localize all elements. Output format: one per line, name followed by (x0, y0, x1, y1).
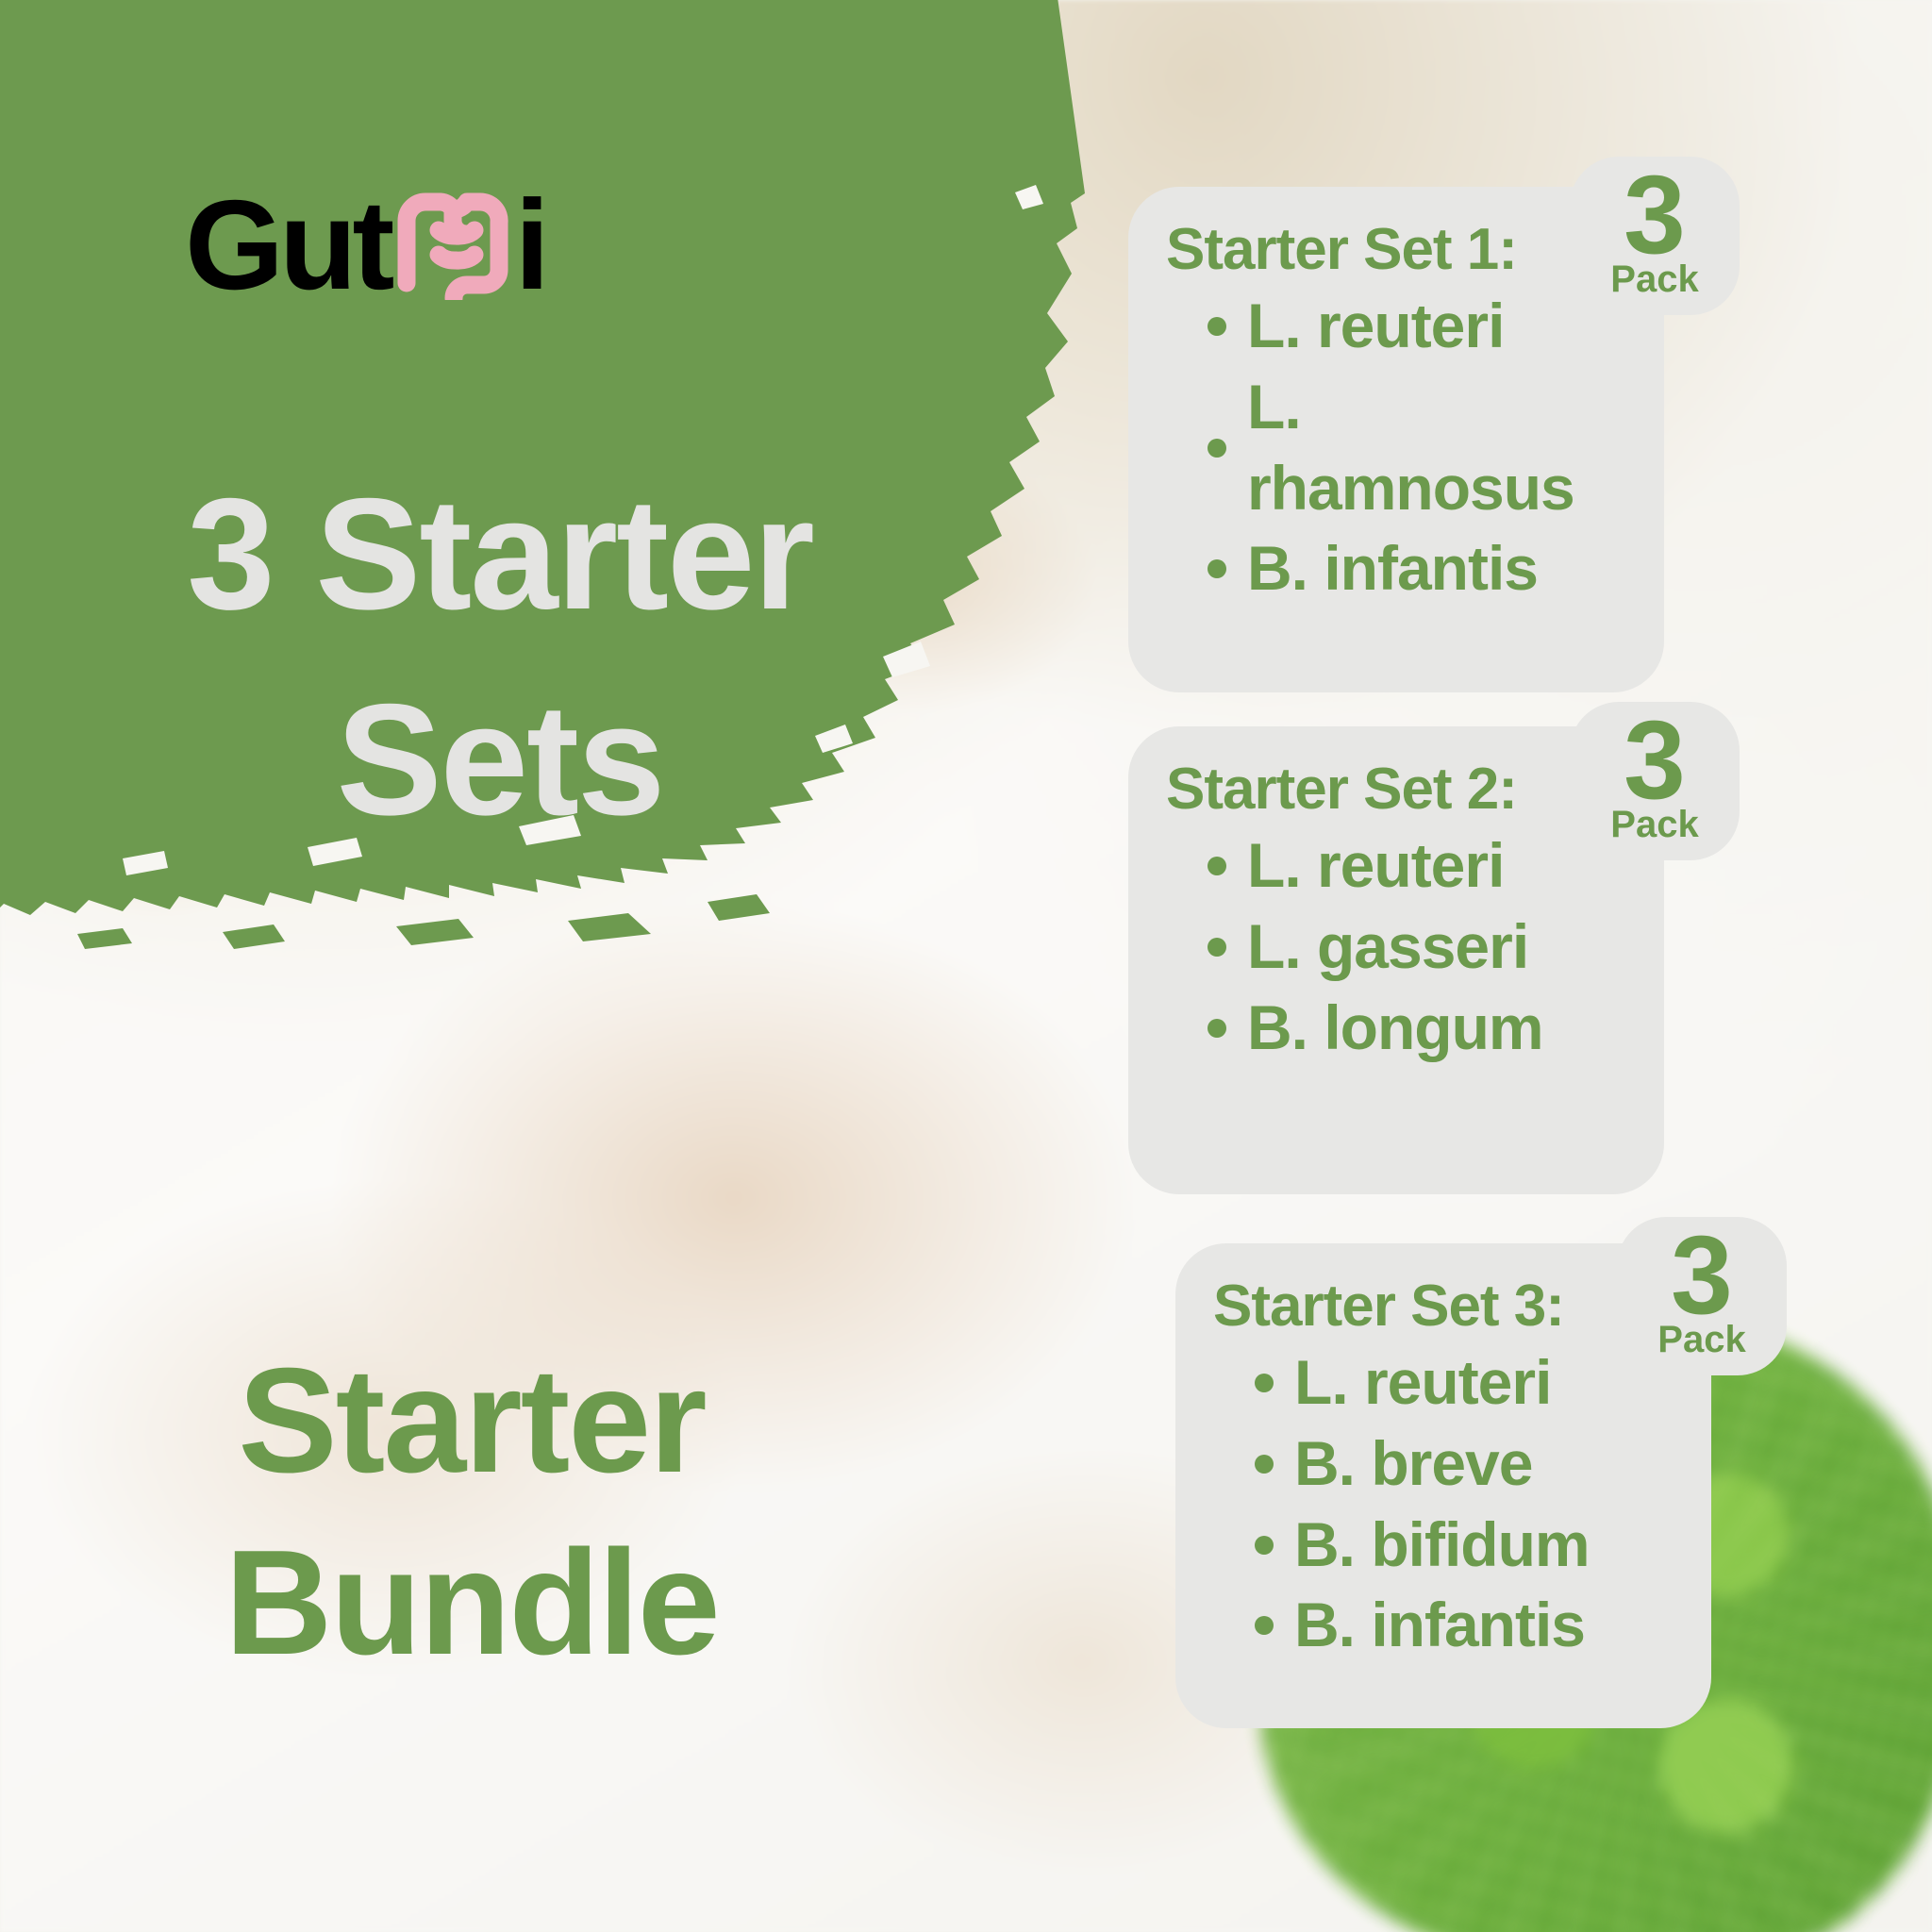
bullet-icon (1255, 1616, 1274, 1635)
pack-count-label: Pack (1610, 806, 1698, 843)
starter-set-title: Starter Set 1: (1166, 219, 1626, 280)
starter-set-title: Starter Set 3: (1213, 1275, 1674, 1337)
list-item: L. rhamnosus (1166, 367, 1626, 529)
strain-label: B. longum (1247, 992, 1543, 1062)
bullet-icon (1207, 1019, 1226, 1038)
pack-count-number: 3 (1624, 158, 1686, 272)
logo-word-i: i (514, 181, 546, 308)
bullet-icon (1255, 1374, 1274, 1392)
bullet-icon (1255, 1455, 1274, 1474)
list-item: L. reuteri (1166, 825, 1626, 907)
list-item: B. longum (1166, 988, 1626, 1069)
bullet-icon (1207, 857, 1226, 875)
intestine-icon (393, 189, 512, 300)
strain-label: L. reuteri (1294, 1347, 1551, 1417)
strain-list: L. reuteri L. rhamnosus B. infantis (1166, 286, 1626, 609)
strain-list: L. reuteri L. gasseri B. longum (1166, 825, 1626, 1068)
list-item: L. reuteri (1166, 286, 1626, 367)
page-title: 3 Starter Sets (113, 451, 887, 863)
bullet-icon (1207, 317, 1226, 336)
list-item: L. reuteri (1213, 1342, 1674, 1424)
logo-word-gut: Gut (185, 181, 390, 308)
strain-label: L. reuteri (1247, 830, 1504, 900)
starter-set-title: Starter Set 2: (1166, 758, 1626, 820)
bullet-icon (1207, 938, 1226, 957)
pack-count-number: 3 (1624, 704, 1686, 817)
strain-list: L. reuteri B. breve B. bifidum B. infant… (1213, 1342, 1674, 1666)
bullet-icon (1207, 559, 1226, 578)
strain-label: B. breve (1294, 1428, 1532, 1498)
strain-label: L. reuteri (1247, 291, 1504, 360)
list-item: B. infantis (1166, 528, 1626, 609)
list-item: B. breve (1213, 1424, 1674, 1505)
bullet-icon (1255, 1536, 1274, 1555)
list-item: B. bifidum (1213, 1505, 1674, 1586)
pack-count-badge: 3 Pack (1570, 157, 1740, 315)
brand-logo[interactable]: Gut i (185, 189, 546, 300)
pack-count-label: Pack (1610, 260, 1698, 298)
strain-label: B. infantis (1294, 1590, 1585, 1659)
pack-count-badge: 3 Pack (1570, 702, 1740, 860)
strain-label: L. gasseri (1247, 911, 1528, 981)
list-item: L. gasseri (1166, 907, 1626, 988)
pack-count-label: Pack (1657, 1321, 1745, 1358)
strain-label: L. rhamnosus (1247, 372, 1574, 523)
bullet-icon (1207, 439, 1226, 458)
strain-label: B. bifidum (1294, 1509, 1590, 1579)
pack-count-badge: 3 Pack (1617, 1217, 1787, 1375)
page-subtitle: Starter Bundle (113, 1330, 830, 1694)
strain-label: B. infantis (1247, 533, 1538, 603)
pack-count-number: 3 (1671, 1219, 1733, 1332)
promo-canvas: Gut i 3 Starter Sets Starter Bundle Star… (0, 0, 1932, 1932)
list-item: B. infantis (1213, 1585, 1674, 1666)
